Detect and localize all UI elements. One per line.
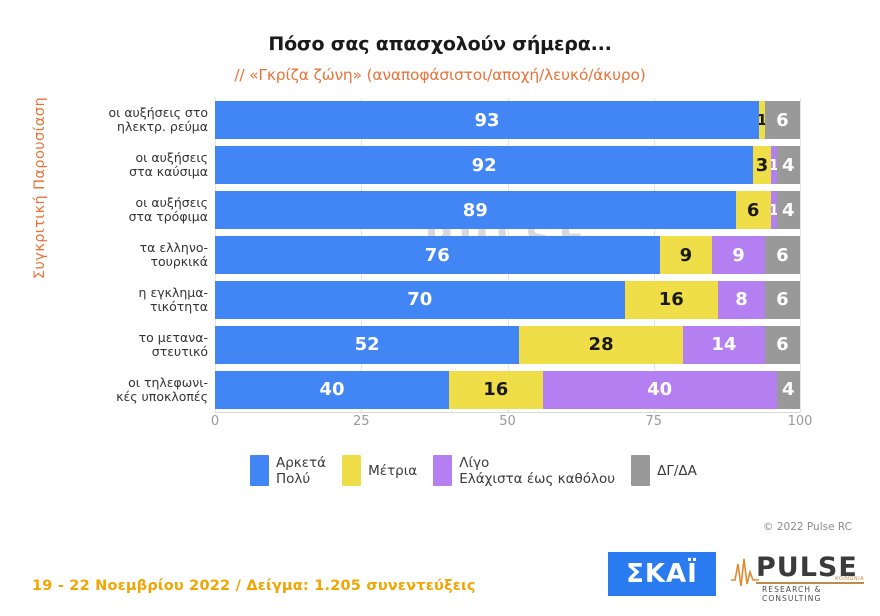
- bar-segment: 16: [449, 371, 543, 409]
- plot-area: PULSE RESEARCH & CONSULTING 931692314896…: [215, 98, 800, 412]
- bar-segment: 16: [625, 281, 719, 319]
- bar-segment: 3: [753, 146, 771, 184]
- bar-segment: 6: [765, 281, 800, 319]
- legend-label-line: Αρκετά: [276, 455, 326, 471]
- bar-segment: 14: [683, 326, 765, 364]
- category-label-list: οι αυξήσεις στοηλεκτρ. ρεύμαοι αυξήσειςσ…: [60, 98, 208, 412]
- category-label-line: τα ελληνο-: [60, 241, 208, 255]
- category-label-line: η εγκλημα-: [60, 286, 208, 300]
- x-axis-ticks: 0255075100: [215, 414, 800, 434]
- category-label: το μετανα-στευτικό: [60, 322, 208, 367]
- legend-label-line: Ελάχιστα έως καθόλου: [459, 471, 615, 487]
- page-subtitle: // «Γκρίζα ζώνη» (αναποφάσιστοι/αποχή/λε…: [0, 66, 880, 84]
- bar-segment: 28: [519, 326, 683, 364]
- legend-item: Μέτρια: [342, 455, 417, 486]
- bar-segment: 9: [712, 236, 765, 274]
- legend-label: ΔΓ/ΔΑ: [657, 455, 697, 486]
- legend-label-line: Μέτρια: [368, 463, 417, 479]
- legend-label: Μέτρια: [368, 455, 417, 486]
- category-label-line: οι αυξήσεις: [60, 196, 208, 210]
- category-label-line: στευτικό: [60, 345, 208, 359]
- bar-segment: 6: [765, 101, 800, 139]
- x-tick-label: 0: [211, 414, 219, 429]
- pulse-logo-tagline: RESEARCH & CONSULTING: [762, 585, 870, 603]
- bar-segment: 70: [215, 281, 625, 319]
- legend-swatch: [342, 455, 361, 486]
- page-title: Πόσο σας απασχολούν σήμερα...: [0, 33, 880, 55]
- copyright-text: © 2022 Pulse RC: [763, 521, 852, 533]
- fieldwork-note: 19 - 22 Νοεμβρίου 2022 / Δείγμα: 1.205 σ…: [32, 578, 476, 594]
- category-label-line: στα τρόφιμα: [60, 210, 208, 224]
- category-label-line: οι αυξήσεις: [60, 151, 208, 165]
- category-label: οι αυξήσεις στοηλεκτρ. ρεύμα: [60, 98, 208, 143]
- bar-segment: 93: [215, 101, 759, 139]
- chart-legend: ΑρκετάΠολύΜέτριαΛίγοΕλάχιστα έως καθόλου…: [250, 455, 697, 487]
- skai-logo-text: ΣΚΑΪ: [626, 559, 698, 589]
- x-tick-label: 100: [788, 414, 813, 429]
- x-axis-line: [215, 412, 800, 413]
- stacked-bar-row: 701686: [215, 281, 800, 319]
- bar-segment: 40: [543, 371, 777, 409]
- gridline-100: [800, 98, 801, 412]
- stacked-bar-row: 4016404: [215, 371, 800, 409]
- bar-segment: 89: [215, 191, 736, 229]
- category-label-line: οι αυξήσεις στο: [60, 106, 208, 120]
- bar-segment: 4: [777, 371, 800, 409]
- skai-logo: ΣΚΑΪ: [608, 552, 716, 596]
- legend-swatch: [433, 455, 452, 486]
- x-tick-label: 25: [353, 414, 370, 429]
- category-label: οι τηλεφωνι-κές υποκλοπές: [60, 367, 208, 412]
- stacked-bar-row: 76996: [215, 236, 800, 274]
- bar-segment: 9: [660, 236, 713, 274]
- category-label-line: στα καύσιμα: [60, 165, 208, 179]
- category-label-line: τικότητα: [60, 300, 208, 314]
- bar-segment: 6: [736, 191, 771, 229]
- bar-segment: 52: [215, 326, 519, 364]
- stacked-bar-rows: 931692314896147699670168652281464016404: [215, 98, 800, 412]
- x-tick-label: 75: [645, 414, 662, 429]
- legend-item: ΛίγοΕλάχιστα έως καθόλου: [433, 455, 615, 487]
- bar-segment: 92: [215, 146, 753, 184]
- category-label: τα ελληνο-τουρκικά: [60, 233, 208, 278]
- chart-page: Πόσο σας απασχολούν σήμερα... // «Γκρίζα…: [0, 0, 880, 616]
- stacked-bar-row: 89614: [215, 191, 800, 229]
- legend-label-line: Πολύ: [276, 471, 326, 487]
- category-label: οι αυξήσειςστα καύσιμα: [60, 143, 208, 188]
- bar-segment: 4: [777, 191, 800, 229]
- legend-label: ΑρκετάΠολύ: [276, 455, 326, 487]
- x-tick-label: 50: [499, 414, 516, 429]
- bar-segment: 40: [215, 371, 449, 409]
- category-label-line: ηλεκτρ. ρεύμα: [60, 120, 208, 134]
- legend-swatch: [631, 455, 650, 486]
- legend-item: ΑρκετάΠολύ: [250, 455, 326, 487]
- category-label-line: οι τηλεφωνι-: [60, 376, 208, 390]
- bar-segment: 76: [215, 236, 660, 274]
- category-label: οι αυξήσειςστα τρόφιμα: [60, 188, 208, 233]
- category-label-line: κές υποκλοπές: [60, 390, 208, 404]
- bar-segment: 4: [777, 146, 800, 184]
- category-label: η εγκλημα-τικότητα: [60, 277, 208, 322]
- legend-swatch: [250, 455, 269, 486]
- bar-segment: 6: [765, 326, 800, 364]
- stacked-bar-row: 9316: [215, 101, 800, 139]
- pulse-logo: PULSE ΚΟΙΝΩΝΙΑ RESEARCH & CONSULTING: [730, 550, 870, 598]
- category-label-line: το μετανα-: [60, 331, 208, 345]
- legend-label-line: ΔΓ/ΔΑ: [657, 463, 697, 479]
- stacked-bar-row: 92314: [215, 146, 800, 184]
- pulse-logo-rule: [756, 582, 864, 584]
- legend-label: ΛίγοΕλάχιστα έως καθόλου: [459, 455, 615, 487]
- bar-segment: 6: [765, 236, 800, 274]
- bar-segment: 8: [718, 281, 765, 319]
- pulse-logo-tiny: ΚΟΙΝΩΝΙΑ: [835, 576, 864, 582]
- y-axis-caption: Συγκριτική Παρουσίαση: [32, 88, 48, 288]
- stacked-bar-row: 5228146: [215, 326, 800, 364]
- legend-label-line: Λίγο: [459, 455, 615, 471]
- legend-item: ΔΓ/ΔΑ: [631, 455, 697, 486]
- category-label-line: τουρκικά: [60, 255, 208, 269]
